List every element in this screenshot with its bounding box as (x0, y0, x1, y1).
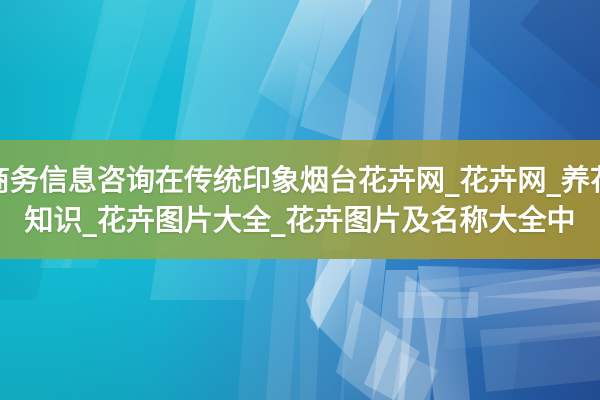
headline-line-2: 知识_花卉图片大全_花卉图片及名称大全中 (24, 200, 575, 240)
text-band: 商务信息咨询在传统印象烟台花卉网_花卉网_养花 知识_花卉图片大全_花卉图片及名… (0, 140, 600, 259)
banner-image: 商务信息咨询在传统印象烟台花卉网_花卉网_养花 知识_花卉图片大全_花卉图片及名… (0, 0, 600, 400)
headline-line-1: 商务信息咨询在传统印象烟台花卉网_花卉网_养花 (0, 160, 600, 200)
